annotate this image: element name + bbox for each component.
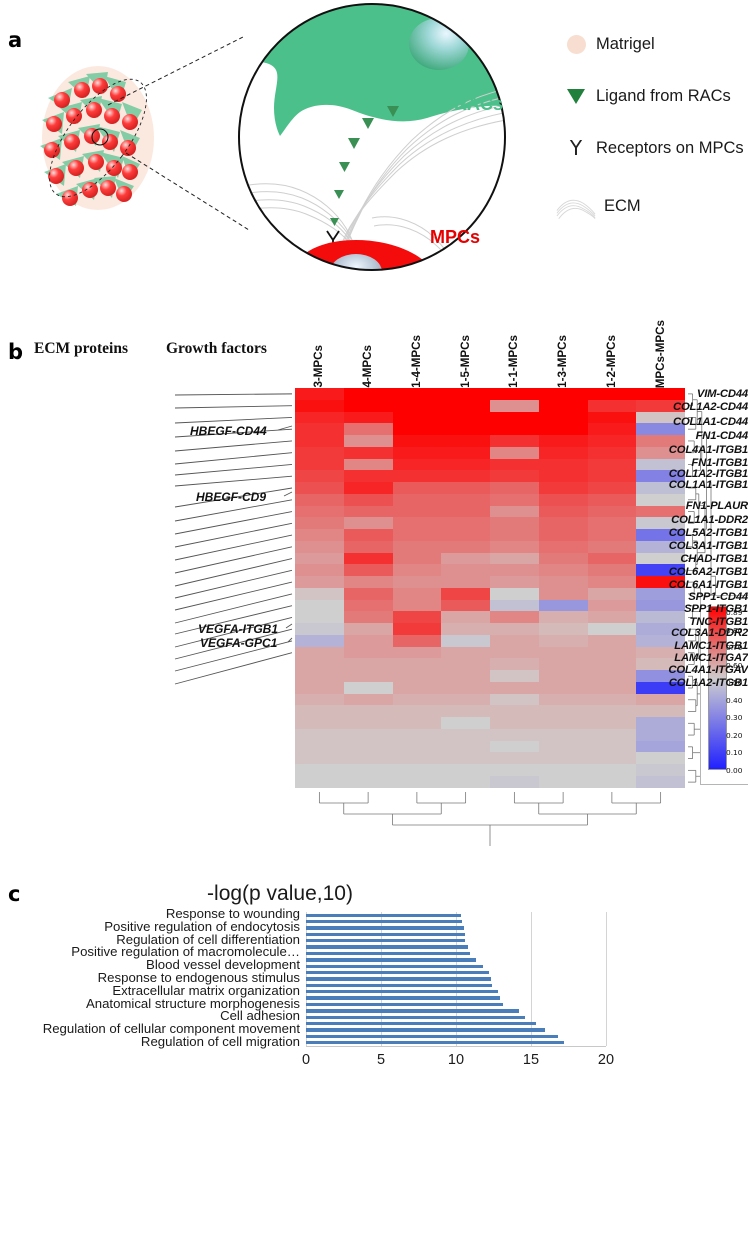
heatmap-cell[interactable] [490, 623, 539, 635]
ecm-protein-label: COL3A1-DDR2 [578, 627, 748, 639]
heatmap-cell[interactable] [295, 752, 344, 764]
heatmap-cell[interactable] [344, 541, 393, 553]
heatmap-cell[interactable] [393, 412, 442, 424]
heatmap-cell[interactable] [295, 423, 344, 435]
legend-label-matrigel: Matrigel [596, 35, 655, 54]
bar[interactable] [306, 1003, 503, 1006]
heatmap-cell[interactable] [344, 435, 393, 447]
heatmap-cell[interactable] [441, 764, 490, 776]
barchart-gridline [606, 912, 607, 1046]
heatmap-cell[interactable] [490, 682, 539, 694]
heatmap-column-label: MPCs-MPCs [654, 320, 667, 388]
ecm-protein-label: COL1A2-ITGB1 [578, 677, 748, 689]
heatmap-cell[interactable] [393, 588, 442, 600]
heatmap-cell[interactable] [393, 529, 442, 541]
heatmap-cell[interactable] [490, 647, 539, 659]
growth-factor-label: VEGFA-ITGB1 [198, 622, 278, 636]
heatmap-cell[interactable] [490, 564, 539, 576]
colorbar-tick: 0.00 [726, 766, 742, 775]
ecm-protein-label: COL4A1-ITGB1 [578, 444, 748, 456]
heatmap-row [295, 752, 685, 764]
heatmap-cell[interactable] [295, 635, 344, 647]
heatmap-cell[interactable] [441, 600, 490, 612]
heatmap-cell[interactable] [441, 776, 490, 788]
heatmap-cell[interactable] [441, 553, 490, 565]
heatmap-cell[interactable] [393, 635, 442, 647]
bar[interactable] [306, 990, 498, 993]
bar[interactable] [306, 952, 470, 955]
barchart-x-tick: 20 [598, 1052, 614, 1068]
bar[interactable] [306, 1028, 545, 1031]
heatmap-cell[interactable] [393, 494, 442, 506]
ecm-protein-label: COL1A1-CD44 [578, 416, 748, 428]
heatmap-cell[interactable] [295, 506, 344, 518]
legend-label-ligand: Ligand from RACs [596, 87, 731, 106]
heatmap-cell[interactable] [393, 470, 442, 482]
receptor-y-icon: Y [556, 138, 596, 158]
barchart-x-tick: 10 [448, 1052, 464, 1068]
heatmap-cell[interactable] [441, 658, 490, 670]
heatmap-cell[interactable] [490, 506, 539, 518]
racs-label: RACs [454, 94, 503, 114]
ecm-protein-label: SPP1-ITGB1 [578, 603, 748, 615]
panel-b-heatmap: b ECM proteins Growth factors 3-MPCs4-MP… [0, 300, 748, 850]
heatmap-cell[interactable] [490, 658, 539, 670]
mpcs-label: MPCs [430, 227, 480, 247]
ecm-protein-label: COL6A1-ITGB1 [578, 579, 748, 591]
ecm-protein-label: SPP1-CD44 [578, 591, 748, 603]
legend-item-ligand: Ligand from RACs [556, 70, 748, 122]
bar[interactable] [306, 958, 476, 961]
heatmap-cell[interactable] [441, 741, 490, 753]
heatmap-cell[interactable] [393, 459, 442, 471]
heatmap-cell[interactable] [588, 752, 637, 764]
heatmap-cell[interactable] [344, 553, 393, 565]
heatmap-cell[interactable] [539, 764, 588, 776]
heatmap-cell[interactable] [441, 564, 490, 576]
heatmap-cell[interactable] [588, 729, 637, 741]
heatmap-cell[interactable] [490, 482, 539, 494]
heatmap-column-label: 1-4-MPCs [410, 335, 423, 388]
bar[interactable] [306, 984, 492, 987]
heatmap-column-label: 4-MPCs [361, 345, 374, 388]
heatmap-cell[interactable] [441, 506, 490, 518]
barchart-title: -log(p value,10) [0, 882, 560, 906]
bar[interactable] [306, 945, 468, 948]
heatmap-cell[interactable] [490, 600, 539, 612]
heatmap-cell[interactable] [295, 682, 344, 694]
heatmap-cell[interactable] [344, 623, 393, 635]
legend-label-ecm: ECM [604, 197, 641, 216]
heatmap-cell[interactable] [344, 717, 393, 729]
heatmap-cell[interactable] [441, 482, 490, 494]
heatmap-cell[interactable] [539, 717, 588, 729]
matrigel-dot-icon [556, 35, 596, 54]
heatmap-cell[interactable] [344, 482, 393, 494]
heatmap-cell[interactable] [393, 717, 442, 729]
heatmap-cell[interactable] [636, 741, 685, 753]
heatmap-cell[interactable] [588, 741, 637, 753]
heatmap-cell[interactable] [344, 470, 393, 482]
heatmap-cell[interactable] [344, 506, 393, 518]
leader-lines [0, 300, 300, 820]
heatmap-cell[interactable] [490, 517, 539, 529]
heatmap-cell[interactable] [636, 752, 685, 764]
heatmap-cell[interactable] [441, 435, 490, 447]
magnified-circle-view: RACs MPCs [232, 0, 512, 275]
ecm-protein-label: LAMC1-ITGB1 [578, 640, 748, 652]
heatmap-cell[interactable] [490, 459, 539, 471]
heatmap-cell[interactable] [393, 447, 442, 459]
heatmap-cell[interactable] [490, 470, 539, 482]
heatmap-cell[interactable] [344, 764, 393, 776]
heatmap-cell[interactable] [393, 482, 442, 494]
heatmap-cell[interactable] [344, 423, 393, 435]
heatmap-row [295, 694, 685, 706]
heatmap-cell[interactable] [393, 776, 442, 788]
ecm-protein-label: FN1-PLAUR [578, 500, 748, 512]
panel-a-schematic: a [0, 0, 748, 300]
heatmap-cell[interactable] [441, 400, 490, 412]
heatmap-column-label: 1-3-MPCs [556, 335, 569, 388]
heatmap-column-labels: 3-MPCs4-MPCs1-4-MPCs1-5-MPCs1-1-MPCs1-3-… [295, 320, 695, 388]
bar[interactable] [306, 933, 465, 936]
bar[interactable] [306, 965, 483, 968]
heatmap-cell[interactable] [441, 588, 490, 600]
heatmap-cell[interactable] [295, 529, 344, 541]
heatmap-cell[interactable] [344, 564, 393, 576]
heatmap-cell[interactable] [490, 412, 539, 424]
barchart-x-tick: 0 [302, 1052, 310, 1068]
heatmap-cell[interactable] [393, 729, 442, 741]
bar[interactable] [306, 971, 489, 974]
panel-c-barchart: c -log(p value,10) Response to woundingP… [0, 850, 748, 1233]
ecm-protein-label: CHAD-ITGB1 [578, 553, 748, 565]
heatmap-cell[interactable] [393, 705, 442, 717]
heatmap-cell[interactable] [490, 717, 539, 729]
heatmap-cell[interactable] [393, 517, 442, 529]
heatmap-cell[interactable] [441, 576, 490, 588]
heatmap-cell[interactable] [344, 694, 393, 706]
legend-item-matrigel: Matrigel [556, 18, 748, 70]
heatmap-cell[interactable] [295, 553, 344, 565]
bar[interactable] [306, 914, 461, 917]
heatmap-row [295, 729, 685, 741]
heatmap-cell[interactable] [393, 576, 442, 588]
heatmap-cell[interactable] [344, 647, 393, 659]
heatmap-cell[interactable] [490, 705, 539, 717]
heatmap-cell[interactable] [441, 635, 490, 647]
heatmap-cell[interactable] [441, 529, 490, 541]
ecm-protein-label: COL1A1-DDR2 [578, 514, 748, 526]
heatmap-row [295, 717, 685, 729]
ecm-protein-label: COL6A2-ITGB1 [578, 566, 748, 578]
barchart-gridline [531, 912, 532, 1046]
heatmap-cell[interactable] [295, 494, 344, 506]
heatmap-cell[interactable] [393, 506, 442, 518]
heatmap-cell[interactable] [441, 423, 490, 435]
heatmap-cell[interactable] [441, 670, 490, 682]
heatmap-column-label: 1-2-MPCs [605, 335, 618, 388]
heatmap-cell[interactable] [344, 670, 393, 682]
heatmap-cell[interactable] [344, 611, 393, 623]
heatmap-cell[interactable] [344, 447, 393, 459]
colorbar-tick: 0.30 [726, 713, 742, 722]
ecm-protein-label: COL3A1-ITGB1 [578, 540, 748, 552]
legend-item-receptor: Y Receptors on MPCs [556, 122, 748, 174]
heatmap-cell[interactable] [344, 588, 393, 600]
heatmap-cell[interactable] [344, 412, 393, 424]
heatmap-cell[interactable] [393, 741, 442, 753]
heatmap-cell[interactable] [295, 541, 344, 553]
heatmap-cell[interactable] [344, 776, 393, 788]
barchart-x-tick: 5 [377, 1052, 385, 1068]
heatmap-cell[interactable] [441, 517, 490, 529]
bar[interactable] [306, 939, 465, 942]
heatmap-cell[interactable] [393, 435, 442, 447]
heatmap-cell[interactable] [539, 729, 588, 741]
heatmap-cell[interactable] [490, 576, 539, 588]
growth-factor-label: VEGFA-GPC1 [200, 636, 277, 650]
heatmap-cell[interactable] [441, 459, 490, 471]
heatmap-cell[interactable] [344, 459, 393, 471]
heatmap-cell[interactable] [393, 553, 442, 565]
heatmap-cell[interactable] [393, 670, 442, 682]
heatmap-cell[interactable] [295, 647, 344, 659]
heatmap-cell[interactable] [344, 494, 393, 506]
heatmap-cell[interactable] [441, 412, 490, 424]
heatmap-row [295, 705, 685, 717]
heatmap-cell[interactable] [490, 741, 539, 753]
heatmap-cell[interactable] [539, 694, 588, 706]
heatmap-cell[interactable] [490, 588, 539, 600]
heatmap-cell[interactable] [344, 400, 393, 412]
heatmap-cell[interactable] [441, 623, 490, 635]
heatmap-cell[interactable] [344, 729, 393, 741]
heatmap-cell[interactable] [344, 752, 393, 764]
heatmap-cell[interactable] [490, 729, 539, 741]
heatmap-cell[interactable] [393, 694, 442, 706]
heatmap-cell[interactable] [295, 459, 344, 471]
heatmap-cell[interactable] [295, 776, 344, 788]
barchart-bars [306, 912, 606, 1046]
heatmap-cell[interactable] [636, 717, 685, 729]
heatmap-cell[interactable] [539, 776, 588, 788]
heatmap-cell[interactable] [295, 400, 344, 412]
heatmap-cell[interactable] [344, 635, 393, 647]
heatmap-cell[interactable] [441, 705, 490, 717]
ecm-protein-label: LAMC1-ITGA7 [578, 652, 748, 664]
heatmap-cell[interactable] [636, 776, 685, 788]
heatmap-row [295, 764, 685, 776]
heatmap-cell[interactable] [393, 764, 442, 776]
ecm-fibers-icon [556, 191, 596, 221]
heatmap-cell[interactable] [393, 388, 442, 400]
heatmap-cell[interactable] [344, 388, 393, 400]
heatmap-cell[interactable] [539, 752, 588, 764]
heatmap-cell[interactable] [539, 741, 588, 753]
bar[interactable] [306, 1009, 519, 1012]
heatmap-cell[interactable] [490, 435, 539, 447]
heatmap-cell[interactable] [441, 694, 490, 706]
heatmap-cell[interactable] [295, 517, 344, 529]
heatmap-cell[interactable] [441, 541, 490, 553]
heatmap-cell[interactable] [344, 600, 393, 612]
heatmap-cell[interactable] [490, 752, 539, 764]
heatmap-cell[interactable] [393, 564, 442, 576]
ecm-protein-label: COL4A1-ITGAV [578, 664, 748, 676]
heatmap-cell[interactable] [490, 529, 539, 541]
legend-label-receptor: Receptors on MPCs [596, 139, 744, 158]
heatmap-cell[interactable] [490, 611, 539, 623]
colorbar-tick: 0.10 [726, 748, 742, 757]
growth-factor-label: HBEGF-CD9 [196, 490, 266, 504]
heatmap-cell[interactable] [295, 741, 344, 753]
heatmap-cell[interactable] [344, 682, 393, 694]
heatmap-cell[interactable] [441, 717, 490, 729]
bar[interactable] [306, 977, 491, 980]
heatmap-cell[interactable] [441, 729, 490, 741]
barchart-x-axis [306, 1046, 606, 1047]
heatmap-cell[interactable] [295, 694, 344, 706]
heatmap-cell[interactable] [393, 752, 442, 764]
heatmap-column-label: 3-MPCs [312, 345, 325, 388]
heatmap-cell[interactable] [295, 600, 344, 612]
heatmap-cell[interactable] [636, 705, 685, 717]
heatmap-cell[interactable] [490, 670, 539, 682]
green-triangle-icon [556, 89, 596, 104]
heatmap-column-label: 1-5-MPCs [459, 335, 472, 388]
heatmap-cell[interactable] [344, 517, 393, 529]
heatmap-cell[interactable] [344, 741, 393, 753]
heatmap-cell[interactable] [441, 752, 490, 764]
heatmap-cell[interactable] [344, 529, 393, 541]
heatmap-cell[interactable] [393, 611, 442, 623]
heatmap-cell[interactable] [344, 658, 393, 670]
heatmap-cell[interactable] [393, 623, 442, 635]
growth-factor-label: HBEGF-CD44 [190, 424, 267, 438]
heatmap-cell[interactable] [295, 588, 344, 600]
ecm-protein-label: COL5A2-ITGB1 [578, 527, 748, 539]
heatmap-cell[interactable] [441, 647, 490, 659]
heatmap-cell[interactable] [588, 717, 637, 729]
heatmap-cell[interactable] [490, 694, 539, 706]
heatmap-cell[interactable] [393, 400, 442, 412]
bar[interactable] [306, 1016, 525, 1019]
heatmap-cell[interactable] [490, 764, 539, 776]
heatmap-cell[interactable] [393, 423, 442, 435]
bar[interactable] [306, 1041, 564, 1044]
heatmap-cell[interactable] [539, 705, 588, 717]
heatmap-cell[interactable] [588, 764, 637, 776]
heatmap-cell[interactable] [295, 447, 344, 459]
heatmap-cell[interactable] [441, 494, 490, 506]
heatmap-cell[interactable] [441, 447, 490, 459]
ecm-protein-label: COL1A1-ITGB1 [578, 479, 748, 491]
heatmap-cell[interactable] [295, 412, 344, 424]
heatmap-cell[interactable] [490, 400, 539, 412]
heatmap-cell[interactable] [295, 482, 344, 494]
ecm-protein-label: VIM-CD44 [578, 388, 748, 400]
heatmap-cell[interactable] [490, 494, 539, 506]
heatmap-cell[interactable] [588, 705, 637, 717]
bar[interactable] [306, 926, 464, 929]
heatmap-cell[interactable] [393, 600, 442, 612]
heatmap-cell[interactable] [295, 576, 344, 588]
heatmap-cell[interactable] [295, 729, 344, 741]
heatmap-cell[interactable] [393, 647, 442, 659]
column-dendrogram [295, 790, 685, 848]
heatmap-cell[interactable] [295, 611, 344, 623]
heatmap-cell[interactable] [441, 682, 490, 694]
heatmap-cell[interactable] [295, 388, 344, 400]
heatmap-cell[interactable] [441, 388, 490, 400]
heatmap-cell[interactable] [490, 776, 539, 788]
heatmap-cell[interactable] [295, 435, 344, 447]
heatmap-row [295, 776, 685, 788]
heatmap-cell[interactable] [636, 764, 685, 776]
barchart-category-label: Regulation of cell migration [141, 1034, 300, 1049]
colorbar-tick: 0.20 [726, 731, 742, 740]
heatmap-cell[interactable] [490, 423, 539, 435]
heatmap-cell[interactable] [393, 658, 442, 670]
heatmap-cell[interactable] [490, 553, 539, 565]
legend-item-ecm: ECM [556, 174, 748, 238]
heatmap-cell[interactable] [344, 576, 393, 588]
heatmap-cell[interactable] [490, 447, 539, 459]
heatmap-cell[interactable] [588, 694, 637, 706]
heatmap-cell[interactable] [636, 694, 685, 706]
heatmap-cell[interactable] [441, 611, 490, 623]
heatmap-cell[interactable] [490, 541, 539, 553]
heatmap-cell[interactable] [393, 541, 442, 553]
heatmap-cell[interactable] [636, 729, 685, 741]
heatmap-cell[interactable] [295, 717, 344, 729]
bar[interactable] [306, 996, 500, 999]
heatmap-cell[interactable] [295, 564, 344, 576]
heatmap-cell[interactable] [490, 635, 539, 647]
heatmap-cell[interactable] [344, 705, 393, 717]
heatmap-cell[interactable] [393, 682, 442, 694]
bar[interactable] [306, 1022, 536, 1025]
heatmap-cell[interactable] [295, 658, 344, 670]
heatmap-cell[interactable] [295, 670, 344, 682]
bar[interactable] [306, 1035, 558, 1038]
colorbar-tick: 0.40 [726, 696, 742, 705]
heatmap-cell[interactable] [588, 776, 637, 788]
heatmap-cell[interactable] [441, 470, 490, 482]
bar[interactable] [306, 920, 462, 923]
heatmap-row [295, 741, 685, 753]
panel-a-legend: Matrigel Ligand from RACs Y Receptors on… [556, 18, 748, 238]
ecm-protein-label: COL1A2-CD44 [578, 401, 748, 413]
barchart-x-tick: 15 [523, 1052, 539, 1068]
heatmap-cell[interactable] [490, 388, 539, 400]
ecm-protein-label: FN1-CD44 [578, 430, 748, 442]
heatmap-cell[interactable] [295, 764, 344, 776]
heatmap-column-label: 1-1-MPCs [507, 335, 520, 388]
heatmap-cell[interactable] [295, 470, 344, 482]
heatmap-cell[interactable] [295, 623, 344, 635]
heatmap-cell[interactable] [295, 705, 344, 717]
